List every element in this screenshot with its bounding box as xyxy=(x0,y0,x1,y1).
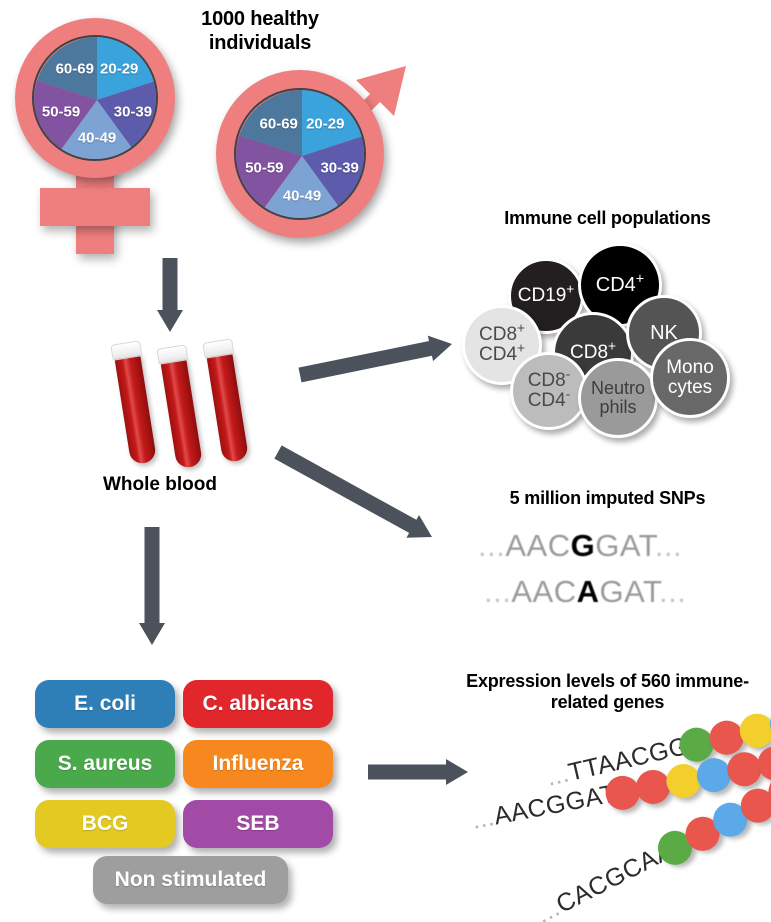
strand-sequence-label: ...AACGGAT xyxy=(470,779,619,835)
expression-strands: ...TTAACGG...AACGGAT...CACGCAA xyxy=(0,0,771,922)
figure-canvas: 1000 healthy individuals Immune cell pop… xyxy=(0,0,771,922)
strand-ellipsis: ... xyxy=(470,803,497,835)
strand-ellipsis: ... xyxy=(532,894,565,922)
strand-sequence-label: ...CACGCAA xyxy=(532,836,678,922)
